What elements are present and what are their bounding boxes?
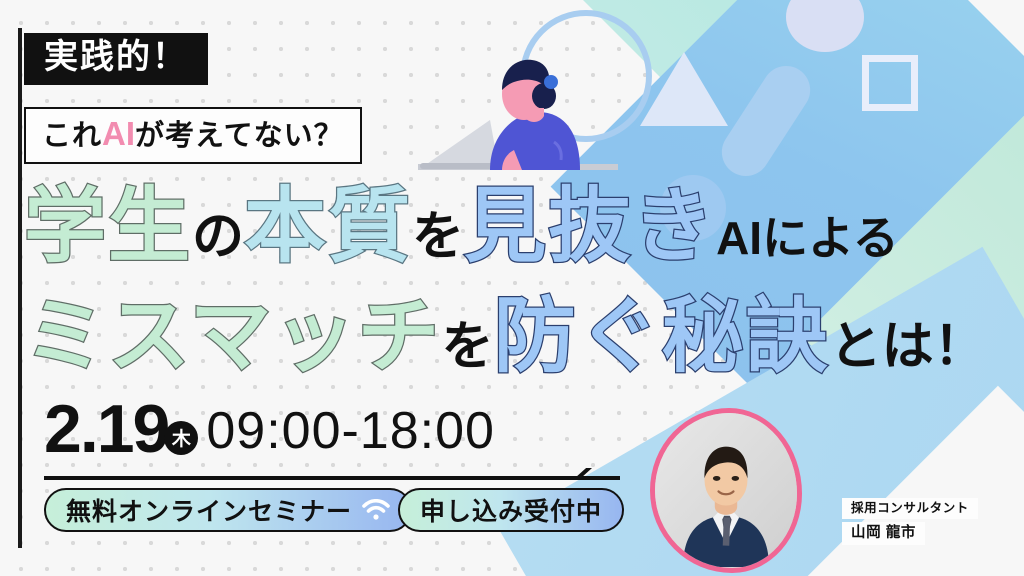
event-date: 2.19 bbox=[44, 398, 168, 461]
day-of-week-badge: 木 bbox=[164, 421, 198, 455]
emphasis-badge-label: 実践的！ bbox=[44, 38, 188, 76]
presenter-role: 採用コンサルタント bbox=[842, 498, 978, 519]
headline-seg-mismatch: ミスマッチ bbox=[24, 291, 442, 382]
square-outline-icon bbox=[862, 55, 918, 111]
emphasis-badge: 実践的！ bbox=[24, 33, 208, 85]
free-online-seminar-pill[interactable]: 無料オンラインセミナー bbox=[44, 488, 412, 532]
apply-now-pill[interactable]: 申し込み受付中 bbox=[398, 488, 624, 532]
presenter-photo-container bbox=[650, 408, 802, 573]
headline-line-1: 学生の本質を見抜きAIによる bbox=[24, 186, 899, 268]
apply-now-label: 申し込み受付中 bbox=[420, 492, 602, 528]
person-at-laptop-illustration bbox=[418, 20, 638, 180]
presenter-name-card: 採用コンサルタント 山岡 龍市 bbox=[842, 498, 1024, 545]
event-time: 09:00-18:00 bbox=[206, 405, 495, 457]
seminar-poster: 実践的！ これAIが考えてない？ 学生の本質を見抜きAIによる ミスマッチを防ぐ… bbox=[0, 0, 1024, 576]
presenter-headshot bbox=[655, 413, 797, 567]
presenter-name: 山岡 龍市 bbox=[842, 522, 925, 545]
headline-seg-fusegu-hiketsu: 防ぐ秘訣 bbox=[494, 291, 830, 382]
headline-seg-minuki: 見抜き bbox=[464, 181, 716, 272]
headline-seg-no: の bbox=[192, 208, 244, 266]
headline-line-2: ミスマッチを防ぐ秘訣とは！ bbox=[24, 296, 986, 378]
question-badge-post: が考えてない？ bbox=[135, 120, 344, 152]
question-badge: これAIが考えてない？ bbox=[24, 107, 362, 164]
question-badge-pre: これ bbox=[42, 120, 102, 152]
wifi-icon bbox=[362, 499, 390, 521]
schedule-row: 2.19 木 09:00-18:00 bbox=[44, 398, 495, 461]
free-online-seminar-label: 無料オンラインセミナー bbox=[66, 492, 352, 528]
headline-seg-towa: とは！ bbox=[830, 318, 986, 376]
triangle-icon bbox=[640, 52, 728, 126]
headline-seg-honshitsu: 本質 bbox=[244, 181, 412, 272]
headline-seg-wo: を bbox=[412, 208, 464, 266]
headline-seg-gakusei: 学生 bbox=[24, 181, 192, 272]
headline-seg-wo2: を bbox=[442, 318, 494, 376]
question-badge-ai: AI bbox=[102, 115, 135, 152]
headline-seg-ai-niyoru: AIによる bbox=[716, 212, 899, 264]
presenter-photo-frame bbox=[650, 408, 802, 573]
left-vertical-rule bbox=[18, 28, 22, 548]
